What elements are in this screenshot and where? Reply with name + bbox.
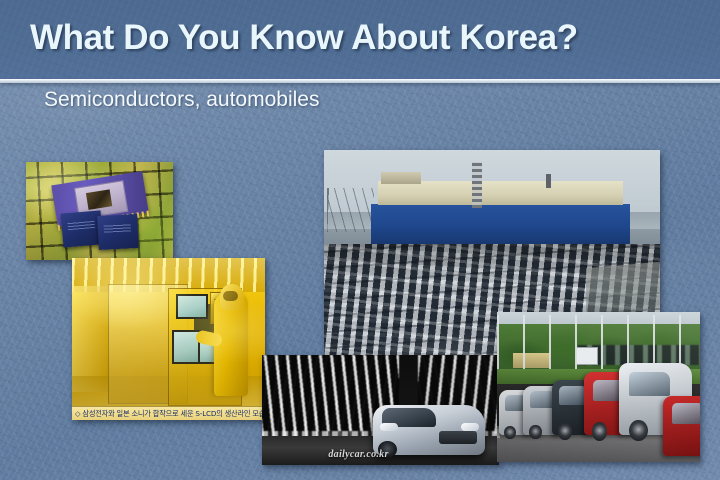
ship-superstructure bbox=[378, 181, 623, 205]
sedan-grille bbox=[439, 431, 477, 444]
silver-sedan bbox=[373, 405, 484, 456]
dailycar-watermark: dailycar.co.kr bbox=[328, 449, 388, 460]
lot-shading bbox=[497, 312, 700, 462]
sedan-photo-inner: dailycar.co.kr bbox=[262, 355, 499, 465]
image-cleanroom: ◇ 삼성전자와 일본 소니가 합작으로 세운 S-LCD의 생산라인 모습. [… bbox=[72, 258, 265, 420]
chip-photo-inner bbox=[26, 162, 173, 260]
image-sedan-motion-blur: dailycar.co.kr bbox=[262, 355, 499, 465]
image-semiconductor-chips bbox=[26, 162, 173, 260]
sedan-headlight-right bbox=[461, 423, 479, 431]
ship-gantry bbox=[472, 162, 482, 208]
image-dealership-lot bbox=[497, 312, 700, 462]
ship-bridge bbox=[381, 172, 421, 184]
ship-hull bbox=[371, 204, 630, 245]
lot-photo-inner bbox=[497, 312, 700, 462]
sedan-headlight-left bbox=[380, 423, 398, 431]
title-divider bbox=[0, 79, 720, 83]
subtitle-text: Semiconductors, automobiles bbox=[44, 88, 319, 112]
port-cranes bbox=[327, 188, 374, 231]
cleanroom-glow bbox=[72, 258, 265, 420]
chip-die bbox=[86, 189, 112, 210]
cleanroom-caption: ◇ 삼성전자와 일본 소니가 합작으로 세운 S-LCD의 생산라인 모습. [… bbox=[72, 406, 265, 420]
memory-module-right bbox=[97, 214, 139, 250]
slide: What Do You Know About Korea? Semiconduc… bbox=[0, 0, 720, 480]
page-title: What Do You Know About Korea? bbox=[30, 18, 690, 58]
cleanroom-photo-inner: ◇ 삼성전자와 일본 소니가 합작으로 세운 S-LCD의 생산라인 모습. [… bbox=[72, 258, 265, 420]
ship-mast bbox=[546, 174, 551, 188]
